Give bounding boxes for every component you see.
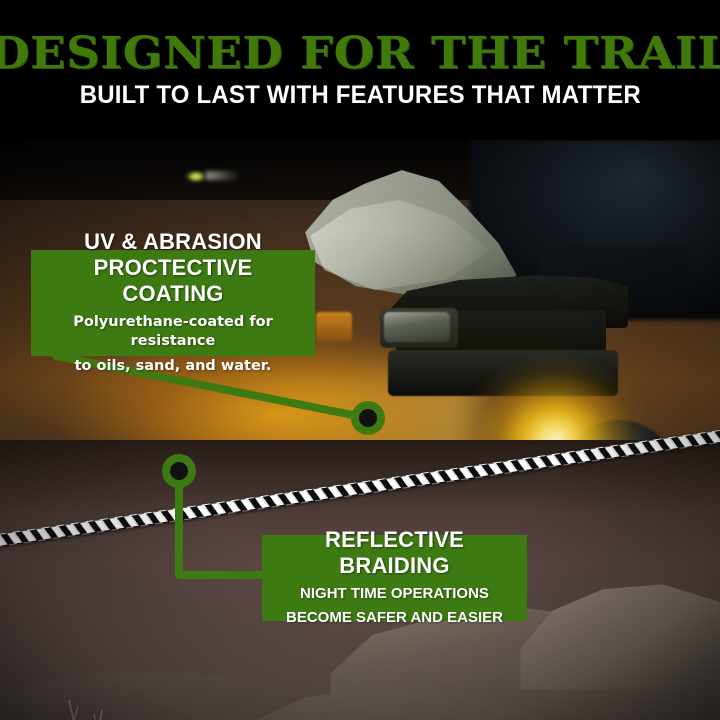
infographic-page: DESIGNED FOR THE TRAIL BUILT TO LAST WIT… — [0, 0, 720, 720]
callout-reflective-braiding[interactable]: REFLECTIVE BRAIDING NIGHT TIME OPERATION… — [262, 535, 527, 621]
page-title: DESIGNED FOR THE TRAIL — [0, 32, 720, 76]
distant-light-streak — [206, 171, 240, 180]
callout-title-line1: UV & ABRASION — [84, 229, 262, 255]
page-subtitle: BUILT TO LAST WITH FEATURES THAT MATTER — [79, 82, 640, 108]
header-banner: DESIGNED FOR THE TRAIL BUILT TO LAST WIT… — [0, 0, 720, 140]
callout-body-line1: NIGHT TIME OPERATIONS — [300, 584, 489, 603]
headlight-reflector — [384, 312, 450, 342]
callout-title-line2: PROCTECTIVE COATING — [41, 255, 305, 307]
callout-uv-abrasion-coating[interactable]: UV & ABRASION PROCTECTIVE COATING Polyur… — [31, 250, 315, 356]
scene-photo — [0, 140, 720, 720]
callout-title-line1: REFLECTIVE BRAIDING — [272, 527, 517, 579]
callout-body-line1: Polyurethane-coated for resistance — [41, 313, 305, 351]
callout-body-line2: BECOME SAFER AND EASIER — [286, 608, 503, 627]
distant-light — [184, 170, 208, 183]
side-marker-light — [316, 312, 352, 342]
desert-bush — [22, 670, 152, 720]
callout-body-line2: to oils, sand, and water. — [75, 357, 272, 376]
